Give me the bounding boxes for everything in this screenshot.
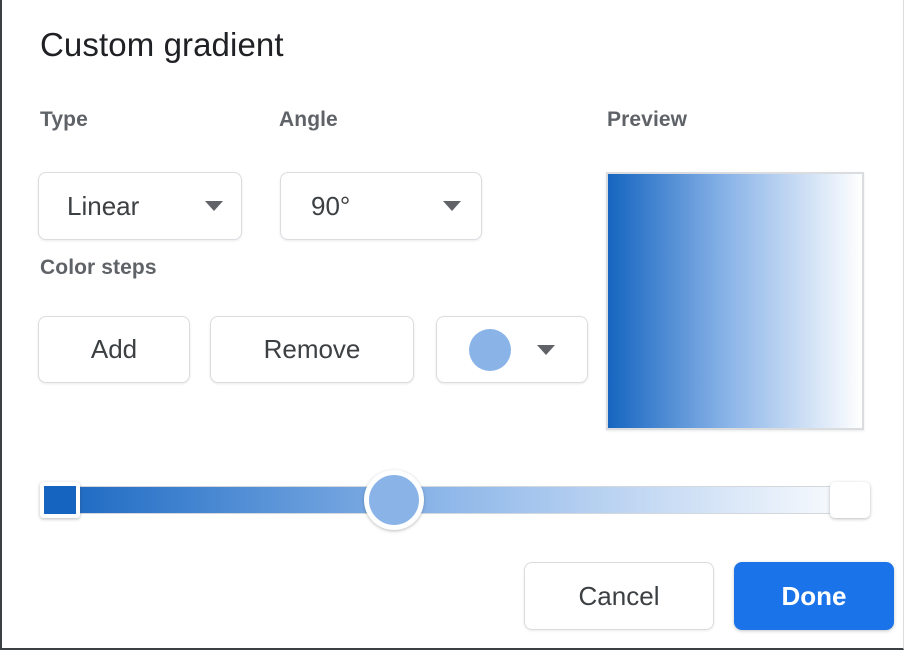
remove-button-label: Remove [264, 334, 361, 365]
gradient-angle-value: 90° [311, 191, 350, 222]
gradient-type-value: Linear [67, 191, 139, 222]
gradient-stop-handle-0[interactable] [40, 482, 80, 518]
add-button-label: Add [91, 334, 137, 365]
custom-gradient-dialog: Custom gradient Type Angle Preview Color… [0, 0, 904, 650]
chevron-down-icon [443, 201, 461, 211]
gradient-stop-slider[interactable] [40, 468, 870, 530]
remove-color-step-button[interactable]: Remove [210, 316, 414, 383]
preview-label: Preview [607, 108, 687, 132]
done-button[interactable]: Done [734, 562, 894, 630]
color-steps-label: Color steps [40, 256, 157, 280]
gradient-stop-handle-1[interactable] [364, 470, 424, 530]
chevron-down-icon [205, 201, 223, 211]
dialog-title: Custom gradient [40, 26, 284, 64]
gradient-angle-select[interactable]: 90° [280, 172, 482, 240]
angle-label: Angle [279, 108, 338, 132]
gradient-slider-track[interactable] [40, 486, 870, 514]
cancel-button[interactable]: Cancel [524, 562, 714, 630]
gradient-preview-fill [608, 174, 862, 428]
gradient-preview [606, 172, 864, 430]
color-swatch-picker[interactable] [436, 316, 588, 383]
chevron-down-icon [537, 345, 555, 355]
gradient-stop-handle-2[interactable] [830, 482, 870, 518]
type-label: Type [40, 108, 88, 132]
color-swatch-circle-icon [469, 329, 511, 371]
gradient-type-select[interactable]: Linear [38, 172, 242, 240]
add-color-step-button[interactable]: Add [38, 316, 190, 383]
